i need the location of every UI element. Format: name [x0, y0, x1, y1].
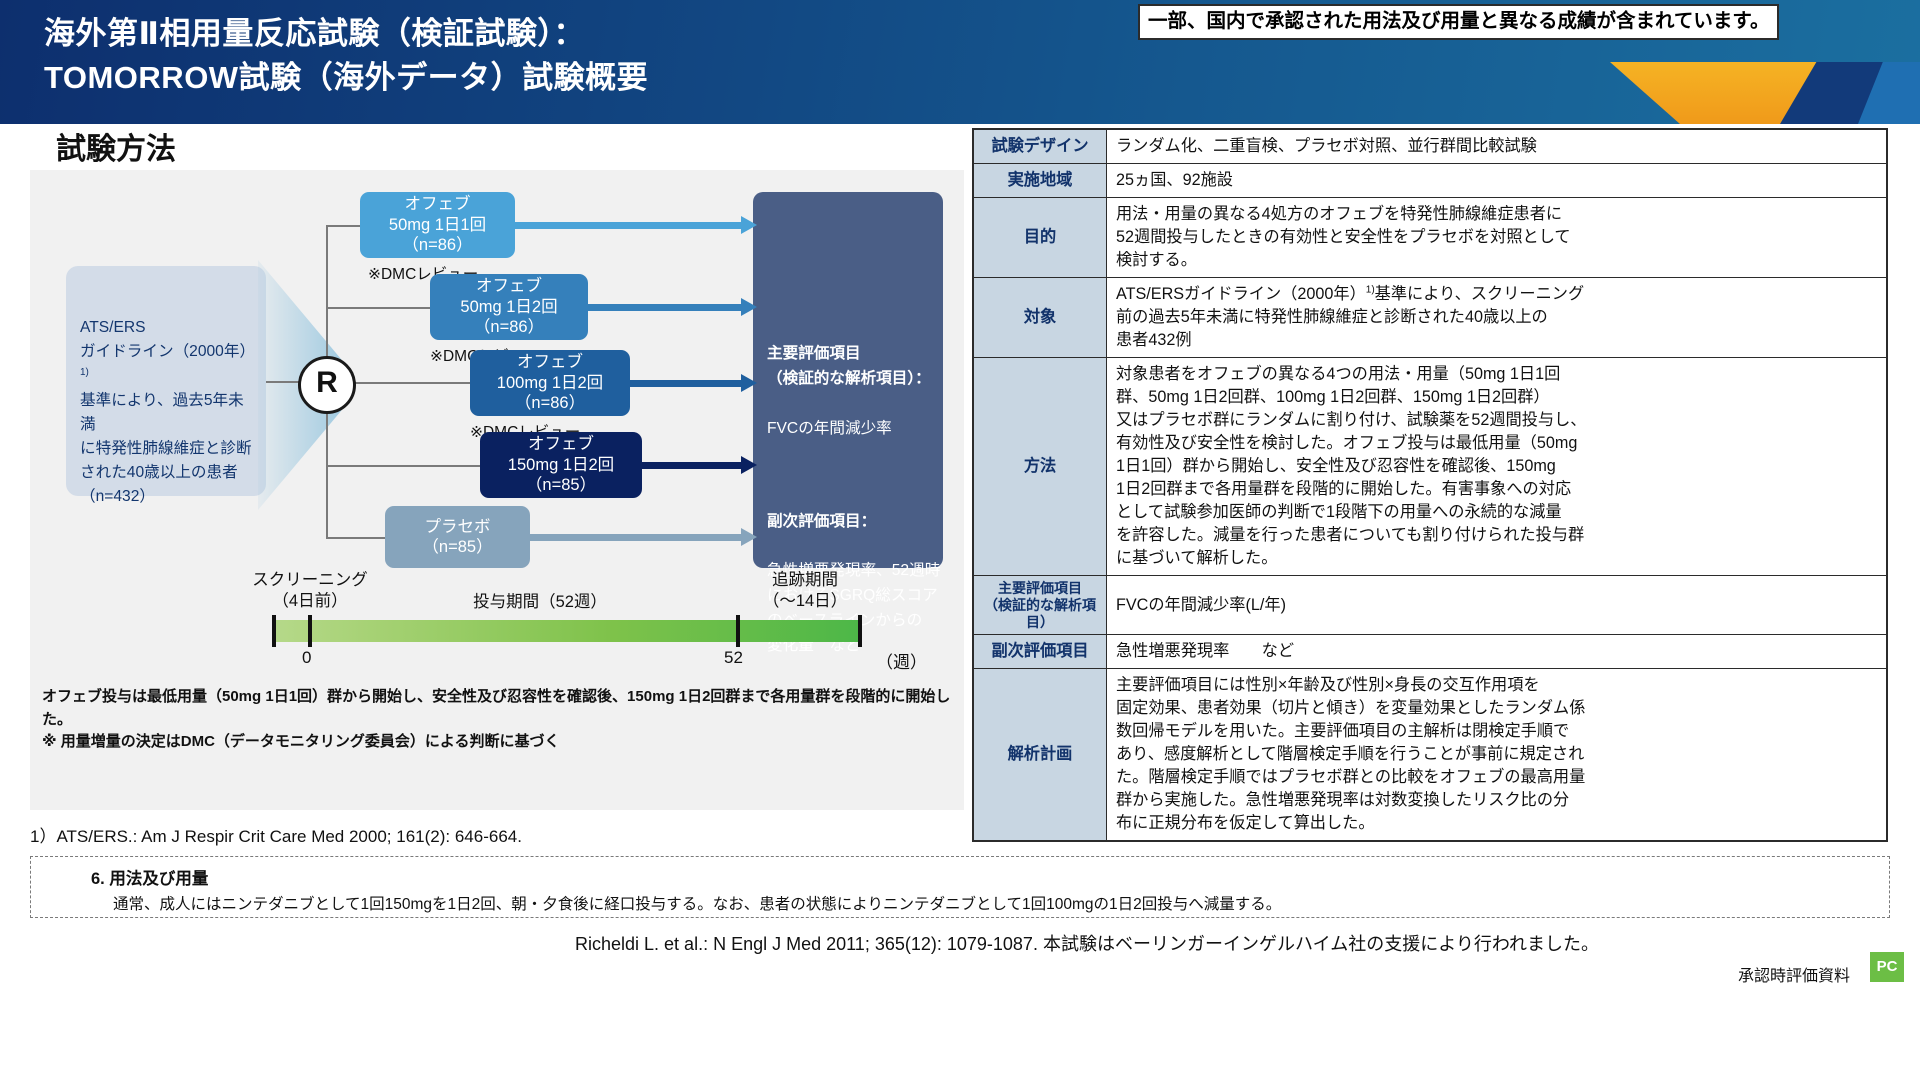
dosage-body: 通常、成人にはニンテダニブとして1回150mgを1日2回、朝・夕食後に経口投与す… [113, 892, 1889, 914]
table-row-value: FVCの年間減少率(L/年) [1107, 576, 1888, 635]
table-row-key: 目的 [973, 198, 1107, 278]
table-row-key: 試験デザイン [973, 129, 1107, 164]
study-summary-table: 試験デザインランダム化、二重盲検、プラセボ対照、並行群間比較試験実施地域25ヵ国… [972, 128, 1888, 842]
diagram-footnote: オフェブ投与は最低用量（50mg 1日1回）群から開始し、安全性及び忍容性を確認… [42, 686, 960, 754]
table-row-value: ATS/ERSガイドライン（2000年）1)基準により、スクリーニング 前の過去… [1107, 278, 1888, 358]
timeline-number-52: 52 [724, 648, 743, 668]
off-label-notice: 一部、国内で承認された用法及び用量と異なる成績が含まれています。 [1138, 4, 1779, 40]
timeline-number-0: 0 [302, 648, 311, 668]
section-title: 試験方法 [56, 124, 176, 168]
table-row: 試験デザインランダム化、二重盲検、プラセボ対照、並行群間比較試験 [973, 129, 1887, 164]
timeline-label-followup: 追跡期間 （～14日） [720, 570, 890, 613]
bottom-reference: Richeldi L. et al.: N Engl J Med 2011; 3… [575, 930, 1599, 956]
page-title: 海外第Ⅱ相用量反応試験（検証試験）： TOMORROW試験（海外データ）試験概要 [44, 12, 648, 100]
secondary-endpoint-title: 副次評価項目： [767, 510, 943, 535]
table-row-key: 解析計画 [973, 669, 1107, 842]
dosage-title: 6. 用法及び用量 [91, 865, 1889, 889]
population-box: ATS/ERS ガイドライン（2000年）1) 基準により、過去5年未満 に特発… [66, 266, 266, 496]
connector-line [326, 307, 432, 309]
table-row: 解析計画主要評価項目には性別×年齢及び性別×身長の交互作用項を 固定効果、患者効… [973, 669, 1887, 842]
timeline-tick-screening [272, 615, 276, 647]
arrow-arm-2 [588, 301, 757, 313]
table-row-key: 主要評価項目 （検証的な解析項目） [973, 576, 1107, 635]
company-logo: PC [1870, 952, 1904, 982]
connector-line [326, 225, 362, 227]
arm-box-4: オフェブ 150mg 1日2回 （n=85） [480, 432, 642, 498]
primary-endpoint-body: FVCの年間減少率 [767, 417, 943, 442]
connector-line [266, 381, 300, 383]
table-row: 主要評価項目 （検証的な解析項目）FVCの年間減少率(L/年) [973, 576, 1887, 635]
reference-1: 1）ATS/ERS.: Am J Respir Crit Care Med 20… [30, 822, 522, 847]
randomization-node: R [298, 356, 356, 414]
table-row-value: 25ヵ国、92施設 [1107, 164, 1888, 198]
table-row-value: 主要評価項目には性別×年齢及び性別×身長の交互作用項を 固定効果、患者効果（切片… [1107, 669, 1888, 842]
primary-endpoint-title: 主要評価項目 （検証的な解析項目）： [767, 342, 943, 392]
timeline-label-screening: スクリーニング （4日前） [220, 570, 400, 613]
approval-note: 承認時評価資料 [1738, 962, 1850, 986]
arrow-arm-4 [642, 459, 757, 471]
connector-line [326, 465, 482, 467]
arm-box-5: プラセボ （n=85） [385, 506, 530, 568]
dosage-info-box: 6. 用法及び用量 通常、成人にはニンテダニブとして1回150mgを1日2回、朝… [30, 856, 1890, 918]
study-design-diagram: ATS/ERS ガイドライン（2000年）1) 基準により、過去5年未満 に特発… [30, 170, 964, 810]
table-row-key: 方法 [973, 358, 1107, 576]
arrow-arm-5 [530, 531, 757, 543]
timeline-unit: （週） [876, 648, 927, 673]
table-row-value: ランダム化、二重盲検、プラセボ対照、並行群間比較試験 [1107, 129, 1888, 164]
timeline-tick-end [858, 615, 862, 647]
timeline-label-treatment: 投与期間（52週） [420, 592, 660, 613]
table-row-key: 副次評価項目 [973, 635, 1107, 669]
arm-box-3: オフェブ 100mg 1日2回 （n=86） [470, 350, 630, 416]
endpoints-box: 主要評価項目 （検証的な解析項目）： FVCの年間減少率 副次評価項目： 急性増… [753, 192, 943, 568]
arm-box-2: オフェブ 50mg 1日2回 （n=86） [430, 274, 588, 340]
arm-box-1: オフェブ 50mg 1日1回 （n=86） [360, 192, 515, 258]
table-row-value: 用法・用量の異なる4処方のオフェブを特発性肺線維症患者に 52週間投与したときの… [1107, 198, 1888, 278]
table-row-key: 対象 [973, 278, 1107, 358]
table-row: 副次評価項目急性増悪発現率 など [973, 635, 1887, 669]
table-row-value: 対象患者をオフェブの異なる4つの用法・用量（50mg 1日1回 群、50mg 1… [1107, 358, 1888, 576]
table-row-value: 急性増悪発現率 など [1107, 635, 1888, 669]
timeline-tick-start [308, 615, 312, 647]
arrow-arm-1 [515, 219, 757, 231]
population-text: ATS/ERS ガイドライン（2000年）1) 基準により、過去5年未満 に特発… [80, 319, 255, 505]
table-row: 対象ATS/ERSガイドライン（2000年）1)基準により、スクリーニング 前の… [973, 278, 1887, 358]
connector-line [326, 537, 386, 539]
table-row: 実施地域25ヵ国、92施設 [973, 164, 1887, 198]
connector-line [348, 382, 472, 384]
table-row: 目的用法・用量の異なる4処方のオフェブを特発性肺線維症患者に 52週間投与したと… [973, 198, 1887, 278]
table-row: 方法対象患者をオフェブの異なる4つの用法・用量（50mg 1日1回 群、50mg… [973, 358, 1887, 576]
arrow-arm-3 [630, 377, 757, 389]
table-row-key: 実施地域 [973, 164, 1107, 198]
timeline-bar [272, 620, 862, 642]
table-body: 試験デザインランダム化、二重盲検、プラセボ対照、並行群間比較試験実施地域25ヵ国… [973, 129, 1887, 841]
timeline-tick-52 [736, 615, 740, 647]
